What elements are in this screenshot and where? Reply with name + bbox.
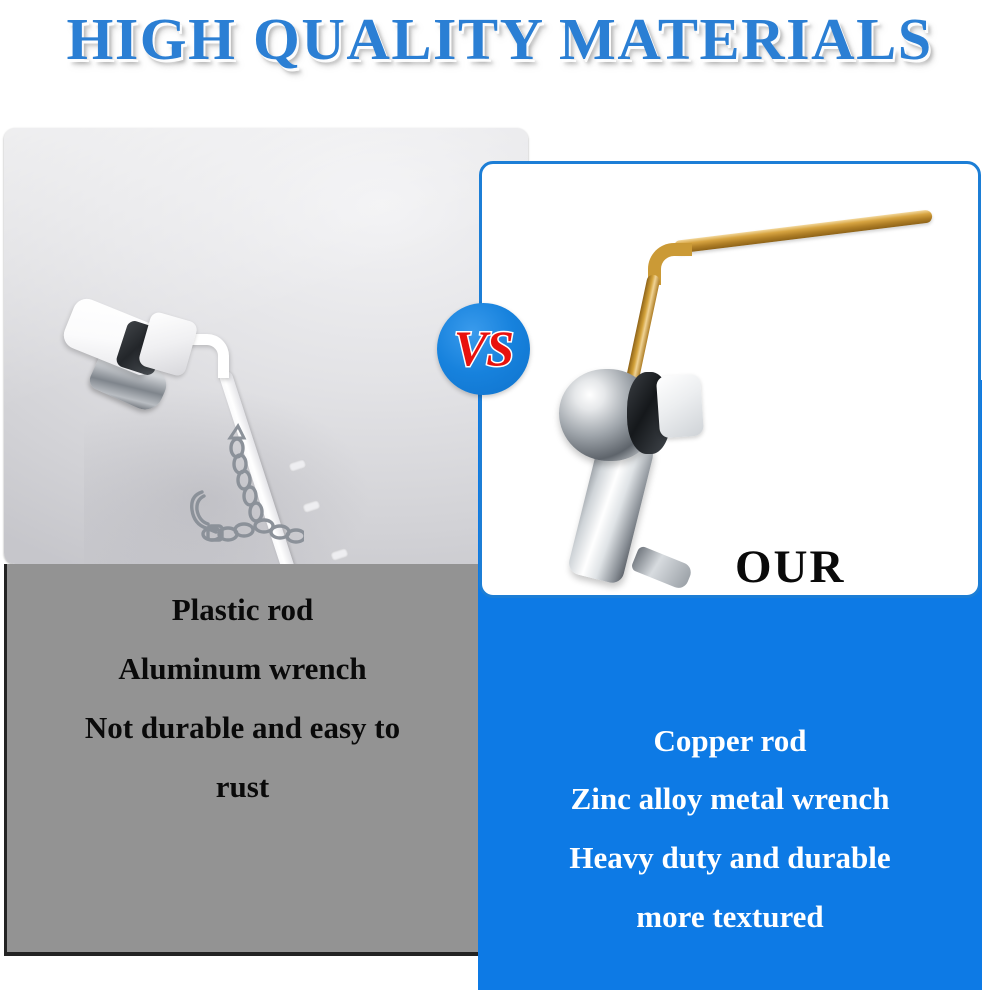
our-feature-line: more textured	[495, 901, 965, 934]
our-lever-tip-shape	[630, 545, 694, 591]
infographic-canvas: HIGH QUALITY MATERIALS Copper rod Zinc a…	[0, 0, 1000, 996]
other-feature-line: Aluminum wrench	[28, 653, 458, 686]
copper-rod-horizontal-shape	[673, 209, 933, 254]
our-product-photo	[479, 161, 981, 598]
vs-label: VS	[454, 319, 513, 377]
our-lever-nut-shape	[656, 374, 704, 439]
our-feature-line: Copper rod	[495, 725, 965, 758]
page-title: HIGH QUALITY MATERIALS	[67, 5, 933, 74]
other-feature-line: rust	[28, 771, 458, 804]
our-feature-line: Heavy duty and durable	[495, 842, 965, 875]
vs-badge: VS	[437, 303, 530, 395]
our-feature-line: Zinc alloy metal wrench	[495, 783, 965, 816]
rod-notch-icon	[302, 500, 321, 514]
other-features-panel: Plastic rod Aluminum wrench Not durable …	[4, 564, 478, 956]
metal-chain-icon	[174, 418, 304, 564]
other-feature-line: Not durable and easy to	[28, 712, 458, 745]
our-label: OUR	[735, 540, 845, 594]
header-banner: HIGH QUALITY MATERIALS	[0, 0, 1000, 78]
other-feature-line: Plastic rod	[28, 594, 458, 627]
rod-notch-icon	[330, 548, 349, 562]
